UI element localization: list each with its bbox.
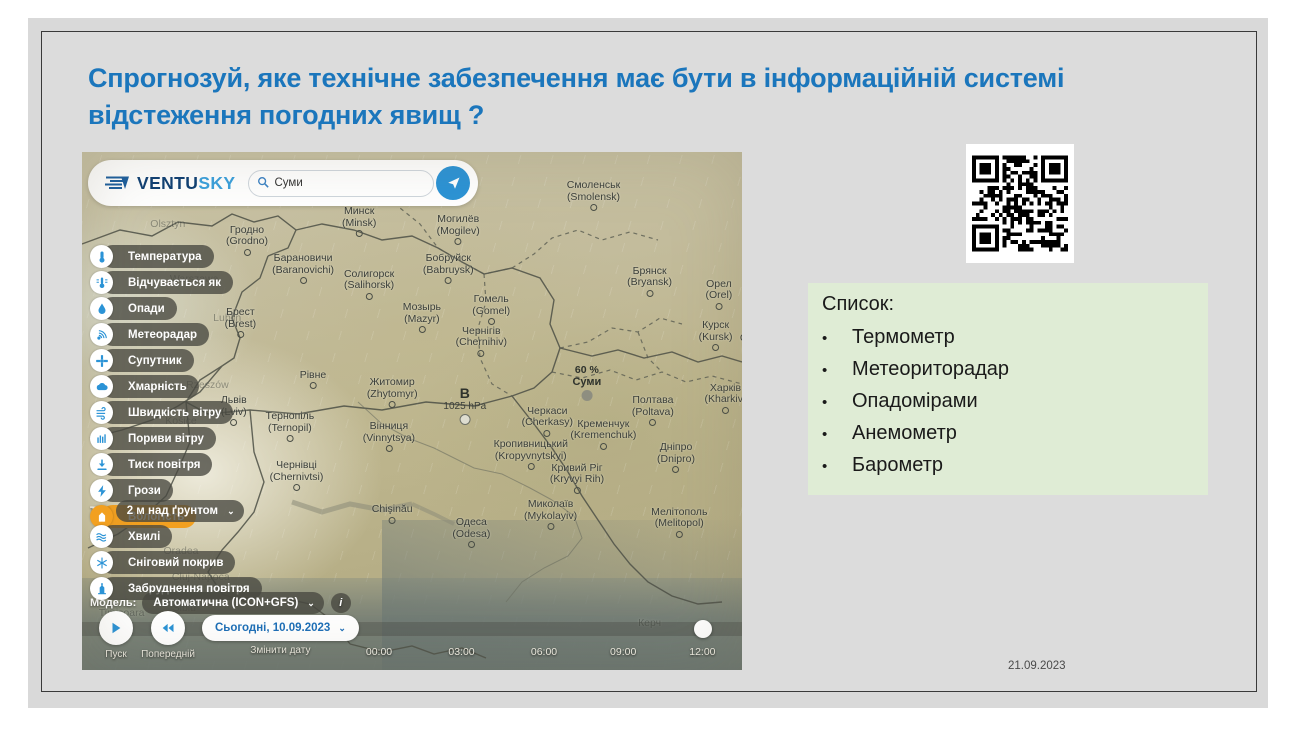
answer-list: •Термометр•Метеориторадар•Опадомірами•Ан…	[822, 322, 1009, 482]
waves-icon	[95, 530, 109, 544]
prev-control[interactable]: Попередній	[142, 611, 194, 660]
date-value: Сьогодні, 10.09.2023	[215, 622, 330, 634]
pressure-dot	[459, 414, 470, 425]
map-label: Одеса(Odesa)	[452, 517, 490, 548]
timeline-tick: 00:00	[366, 646, 392, 658]
list-item: •Термометр	[822, 322, 1009, 354]
snowflake-icon	[95, 556, 109, 570]
layer-item-satellite[interactable]: Супутник	[90, 349, 305, 372]
map-label: Чернігів(Chernihiv)	[456, 326, 507, 357]
map-label: Орел(Orel)	[705, 279, 732, 310]
bullet-glyph: •	[822, 355, 852, 386]
timeline-handle[interactable]	[694, 620, 712, 638]
list-item: •Метеориторадар	[822, 354, 1009, 386]
ventusky-logo[interactable]: VENTUSKY	[104, 173, 236, 194]
map-label: Брянск(Bryansk)	[627, 266, 672, 297]
map-label: Могилёв(Mogilev)	[437, 214, 480, 245]
wind-gust-icon	[90, 427, 113, 450]
layer-item-lightning[interactable]: Грози	[90, 479, 305, 502]
waves-icon	[90, 525, 113, 548]
search-icon	[257, 176, 269, 191]
type-value: 2 м над ґрунтом	[127, 505, 218, 517]
chevron-down-icon: ⌄	[338, 623, 346, 634]
layer-item-pressure[interactable]: Тиск повітря	[90, 453, 305, 476]
info-button[interactable]: i	[331, 593, 351, 613]
ventusky-mark-icon	[104, 175, 130, 191]
layer-item-wind-gust[interactable]: Пориви вітру	[90, 427, 305, 450]
type-row[interactable]: Тип 2 м над ґрунтом ⌄	[90, 500, 244, 522]
play-icon	[109, 621, 123, 635]
wind-speed-icon	[95, 406, 109, 420]
layer-item-thermometer[interactable]: Температура	[90, 245, 305, 268]
cloud-icon	[95, 380, 109, 394]
layer-label: Відчувається як	[101, 271, 233, 294]
map-label: Полтава(Poltava)	[632, 395, 674, 426]
ventusky-map[interactable]: OlsztynVilniusWarszawaLublinRzeszówKošic…	[82, 152, 742, 670]
play-control[interactable]: Пуск	[90, 611, 142, 660]
layer-label: Сніговий покрив	[101, 551, 235, 574]
sumy-humidity-value: 60 %	[572, 364, 601, 376]
sumy-label: Суми	[572, 376, 601, 388]
thermometer-icon	[95, 250, 109, 264]
layer-item-snowflake[interactable]: Сніговий покрив	[90, 551, 305, 574]
map-label: Житомир(Zhytomyr)	[367, 377, 418, 408]
map-label: Дніпро(Dnipro)	[657, 442, 695, 473]
raindrop-icon	[95, 302, 109, 316]
map-label: Мозырь(Mazyr)	[403, 302, 441, 333]
map-label-faint: Olsztyn	[150, 219, 185, 231]
wind-gust-icon	[95, 432, 109, 446]
bullet-glyph: •	[822, 323, 852, 354]
feels-like-icon	[95, 276, 109, 290]
pressure-letter: В	[443, 385, 486, 401]
ventusky-wordmark: VENTUSKY	[137, 173, 236, 194]
layer-label: Температура	[101, 245, 214, 268]
feels-like-icon	[90, 271, 113, 294]
map-label: Миколаїв(Mykolayiv)	[524, 499, 577, 530]
list-item-label: Опадомірами	[852, 386, 978, 417]
prev-button[interactable]	[151, 611, 185, 645]
map-label: Минск(Minsk)	[342, 206, 376, 237]
map-label: Вінниця(Vinnytsya)	[363, 421, 415, 452]
map-label: Кривий Ріг(Kryvyi Rih)	[550, 463, 604, 494]
list-lead: Список:	[822, 293, 894, 316]
radar-icon	[90, 323, 113, 346]
wind-speed-icon	[90, 401, 113, 424]
layer-item-waves[interactable]: Хвилі	[90, 525, 305, 548]
lightning-icon	[95, 484, 109, 498]
raindrop-icon	[90, 297, 113, 320]
timeline-tick: 03:00	[448, 646, 474, 658]
satellite-icon	[95, 354, 109, 368]
locate-button[interactable]	[436, 166, 470, 200]
radar-icon	[95, 328, 109, 342]
search-input[interactable]: Суми	[248, 170, 434, 197]
footer-date: 21.09.2023	[1008, 660, 1066, 672]
pressure-marker: В 1025 hPa	[443, 385, 486, 425]
layer-item-raindrop[interactable]: Опади	[90, 297, 305, 320]
bullet-glyph: •	[822, 387, 852, 418]
map-label: Харків(Kharkiv)	[704, 383, 742, 414]
chevron-down-icon: ⌄	[307, 598, 315, 609]
pressure-value: 1025 hPa	[443, 401, 486, 412]
prev-label: Попередній	[141, 649, 195, 660]
type-select[interactable]: 2 м над ґрунтом ⌄	[116, 500, 244, 522]
model-value: Автоматична (ICON+GFS)	[153, 597, 298, 609]
layer-menu[interactable]: ТемператураВідчувається якОпадиМетеорада…	[90, 245, 305, 531]
sumy-marker: 60 % Суми	[572, 364, 601, 401]
ventusky-header: VENTUSKY Суми	[88, 160, 478, 206]
map-label: Chişinău	[372, 504, 413, 524]
qr-code[interactable]	[966, 144, 1074, 263]
pressure-icon	[95, 458, 109, 472]
chevron-down-icon: ⌄	[227, 506, 235, 517]
timeline-tick: 06:00	[531, 646, 557, 658]
air-pollution-icon	[90, 577, 113, 600]
bullet-glyph: •	[822, 451, 852, 482]
list-item: •Анемометр	[822, 418, 1009, 450]
sumy-dot	[581, 390, 592, 401]
layer-item-radar[interactable]: Метеорадар	[90, 323, 305, 346]
map-label: Курск(Kursk)	[699, 320, 733, 351]
list-item-label: Термометр	[852, 322, 955, 353]
map-label: Старый Оскол(Staryy Oskol)	[740, 333, 742, 364]
list-item-label: Барометр	[852, 450, 943, 481]
timeline-tick: 12:00	[689, 646, 715, 658]
layer-label: Хмарність	[101, 375, 199, 398]
list-item-label: Анемометр	[852, 418, 957, 449]
layer-item-wind-speed[interactable]: Швидкість вітру	[90, 401, 305, 424]
search-value: Суми	[275, 177, 303, 189]
slide-root: Спрогнозуй, яке технічне забезпечення ма…	[0, 0, 1295, 732]
date-button[interactable]: Сьогодні, 10.09.2023 ⌄	[202, 615, 359, 641]
map-label: Черкаси(Cherkasy)	[522, 406, 573, 437]
list-item: •Опадомірами	[822, 386, 1009, 418]
pressure-icon	[90, 453, 113, 476]
layer-item-feels-like[interactable]: Відчувається як	[90, 271, 305, 294]
list-item-label: Метеориторадар	[852, 354, 1009, 385]
map-label: Гомель(Gomel)	[472, 294, 510, 325]
date-control[interactable]: Сьогодні, 10.09.2023 ⌄ Змінити дату	[202, 611, 359, 656]
air-pollution-icon	[95, 582, 109, 596]
map-label: Бобруйск(Babruysk)	[423, 253, 474, 284]
humidity-icon	[95, 510, 109, 524]
play-label: Пуск	[105, 649, 126, 660]
navigate-icon	[446, 176, 461, 191]
layer-label: Тиск повітря	[101, 453, 212, 476]
qr-code-image	[972, 150, 1068, 257]
list-item: •Барометр	[822, 450, 1009, 482]
change-date-label: Змінити дату	[250, 645, 310, 656]
layer-label: Супутник	[101, 349, 194, 372]
playback-controls[interactable]: Пуск Попередній Сьогодні, 10.09.2023 ⌄ З…	[90, 611, 359, 660]
answer-list-box: Список: •Термометр•Метеориторадар•Опадом…	[808, 283, 1208, 495]
map-label: Мелітополь(Melitopol)	[651, 507, 707, 538]
thermometer-icon	[90, 245, 113, 268]
layer-label: Швидкість вітру	[101, 401, 233, 424]
map-label: Солигорск(Salihorsk)	[344, 269, 394, 300]
play-button[interactable]	[99, 611, 133, 645]
bullet-glyph: •	[822, 419, 852, 450]
timeline-tick: 09:00	[610, 646, 636, 658]
layer-label: Пориви вітру	[101, 427, 216, 450]
map-label: Смоленськ(Smolensk)	[567, 180, 621, 211]
layer-item-cloud[interactable]: Хмарність	[90, 375, 305, 398]
page-title: Спрогнозуй, яке технічне забезпечення ма…	[88, 60, 1198, 135]
satellite-icon	[90, 349, 113, 372]
map-label: Кременчук(Kremenchuk)	[570, 419, 636, 450]
lightning-icon	[90, 479, 113, 502]
rewind-icon	[161, 621, 176, 635]
snowflake-icon	[90, 551, 113, 574]
cloud-icon	[90, 375, 113, 398]
layer-label: Метеорадар	[101, 323, 209, 346]
